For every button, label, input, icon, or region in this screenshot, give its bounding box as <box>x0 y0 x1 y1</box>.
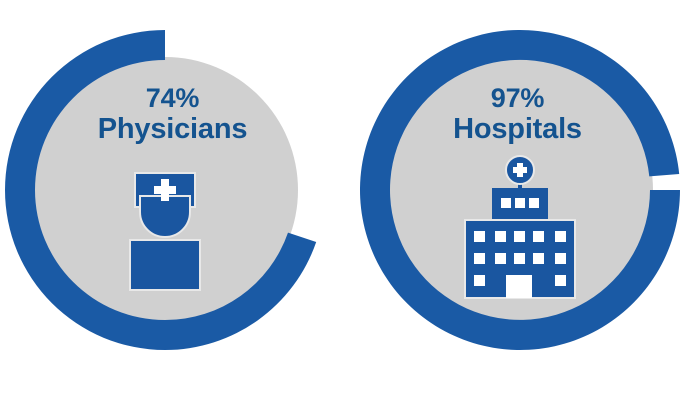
stat-percent-hospitals: 97% <box>345 84 690 113</box>
donut-panel-physicians: 74% Physicians <box>0 0 345 400</box>
hospital-window <box>533 253 544 264</box>
stat-label-hospitals: Hospitals <box>345 114 690 145</box>
stat-percent-physicians: 74% <box>0 84 345 113</box>
hospital-tower-window <box>501 198 511 208</box>
hospital-window <box>495 231 506 242</box>
hospital-window <box>495 253 506 264</box>
donut-chart-physicians <box>0 0 345 400</box>
donut-panel-hospitals: 97% Hospitals <box>345 0 690 400</box>
stat-label-physicians: Physicians <box>0 114 345 145</box>
hospital-window <box>514 231 525 242</box>
hospital-window <box>474 275 485 286</box>
hospital-tower-window <box>529 198 539 208</box>
physician-body <box>130 240 200 290</box>
donut-chart-hospitals <box>345 0 690 400</box>
hospital-window <box>474 253 485 264</box>
infographic-canvas: 74% Physicians <box>0 0 690 400</box>
hospital-window <box>555 275 566 286</box>
hospital-tower-window <box>515 198 525 208</box>
hospital-window <box>555 231 566 242</box>
hospital-window <box>514 253 525 264</box>
hospital-window <box>533 231 544 242</box>
physician-head <box>140 196 190 237</box>
hospital-door <box>506 275 532 298</box>
hospital-window <box>474 231 485 242</box>
hospital-window <box>555 253 566 264</box>
